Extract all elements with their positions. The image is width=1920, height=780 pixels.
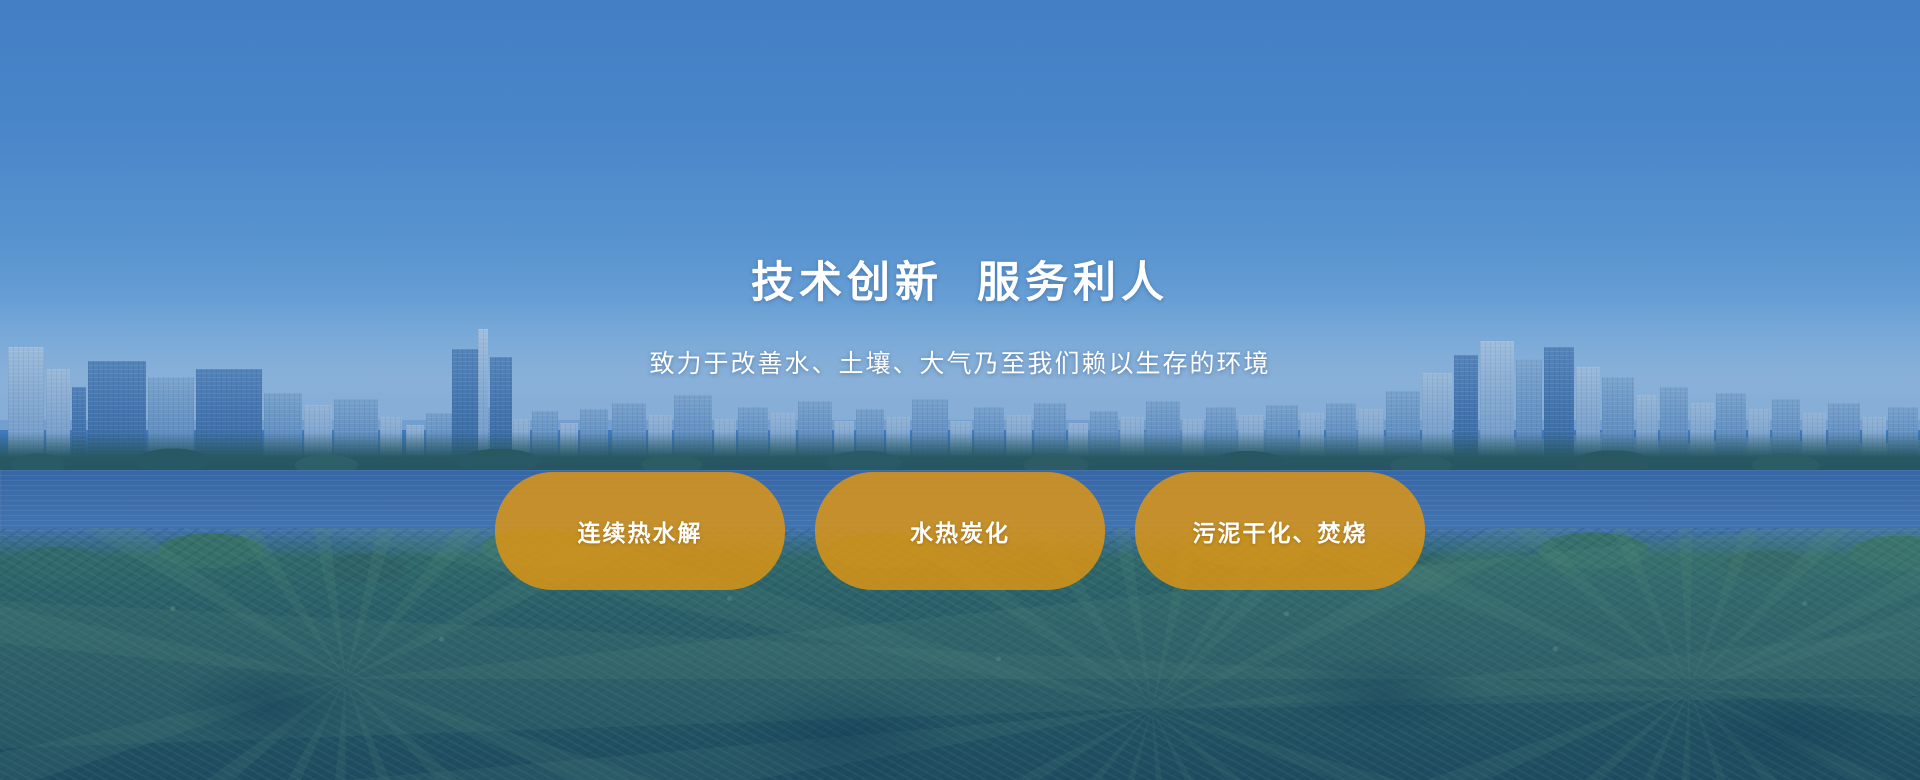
service-pill-label: 连续热水解: [578, 514, 703, 548]
hero-content: 技术创新 服务利人 致力于改善水、土壤、大气乃至我们赖以生存的环境 连续热水解 …: [0, 0, 1920, 780]
service-pill-row: 连续热水解 水热炭化 污泥干化、焚烧: [0, 472, 1920, 590]
hero-title: 技术创新 服务利人: [0, 258, 1920, 309]
hero-banner: 技术创新 服务利人 致力于改善水、土壤、大气乃至我们赖以生存的环境 连续热水解 …: [0, 0, 1920, 780]
hero-subtitle: 致力于改善水、土壤、大气乃至我们赖以生存的环境: [0, 348, 1920, 381]
service-pill-hydrothermal-carbonization[interactable]: 水热炭化: [815, 472, 1105, 590]
service-pill-continuous-thermal-hydrolysis[interactable]: 连续热水解: [495, 472, 785, 590]
service-pill-sludge-drying-incineration[interactable]: 污泥干化、焚烧: [1135, 472, 1425, 590]
service-pill-label: 水热炭化: [910, 514, 1010, 548]
service-pill-label: 污泥干化、焚烧: [1193, 514, 1368, 548]
